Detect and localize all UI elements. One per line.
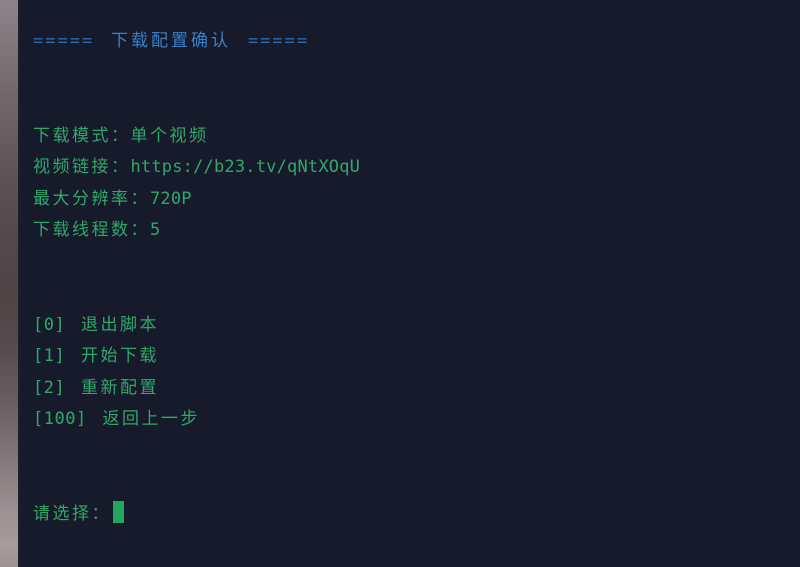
menu-option-reconfigure[interactable]: [2] 重新配置 (33, 373, 800, 405)
config-value-thread-count: 5 (150, 220, 160, 240)
config-value-download-mode: 单个视频 (131, 126, 209, 146)
menu-label-exit-script: 退出脚本 (65, 315, 159, 335)
config-row-thread-count: 下载线程数：5 (33, 215, 800, 247)
menu-key-1: [1] (33, 346, 65, 366)
config-value-max-resolution: 720P (150, 189, 192, 209)
spacer-line (33, 247, 800, 279)
config-row-max-resolution: 最大分辨率：720P (33, 184, 800, 216)
config-value-video-link: https://b23.tv/qNtXOqU (131, 157, 361, 177)
spacer-line (33, 278, 800, 310)
menu-label-start-download: 开始下载 (65, 346, 159, 366)
spacer-line (33, 89, 800, 121)
spacer-line (33, 467, 800, 499)
menu-key-100: [100] (33, 409, 87, 429)
selection-prompt-label: 请选择： (33, 504, 111, 524)
spacer-line (33, 436, 800, 468)
terminal-window: ===== 下载配置确认 ===== 下载模式：单个视频 视频链接：https:… (0, 0, 800, 567)
config-label-video-link: 视频链接： (33, 157, 131, 177)
menu-label-go-back: 返回上一步 (87, 409, 200, 429)
config-label-download-mode: 下载模式： (33, 126, 131, 146)
menu-key-0: [0] (33, 315, 65, 335)
header-title: 下载配置确认 (94, 31, 248, 51)
header-left-rule: ===== (33, 31, 94, 51)
config-label-max-resolution: 最大分辨率： (33, 189, 150, 209)
config-label-thread-count: 下载线程数： (33, 220, 150, 240)
selection-prompt-row[interactable]: 请选择： (33, 499, 800, 531)
section-header: ===== 下载配置确认 ===== (33, 26, 800, 58)
menu-option-go-back[interactable]: [100] 返回上一步 (33, 404, 800, 436)
config-row-download-mode: 下载模式：单个视频 (33, 121, 800, 153)
window-edge-scrollbar-strip[interactable] (0, 0, 18, 567)
terminal-output-area[interactable]: ===== 下载配置确认 ===== 下载模式：单个视频 视频链接：https:… (20, 0, 800, 567)
header-right-rule: ===== (248, 31, 309, 51)
menu-label-reconfigure: 重新配置 (65, 378, 159, 398)
spacer-line (33, 58, 800, 90)
config-row-video-link: 视频链接：https://b23.tv/qNtXOqU (33, 152, 800, 184)
menu-option-exit-script[interactable]: [0] 退出脚本 (33, 310, 800, 342)
menu-key-2: [2] (33, 378, 65, 398)
text-cursor-block (113, 501, 124, 523)
menu-option-start-download[interactable]: [1] 开始下载 (33, 341, 800, 373)
